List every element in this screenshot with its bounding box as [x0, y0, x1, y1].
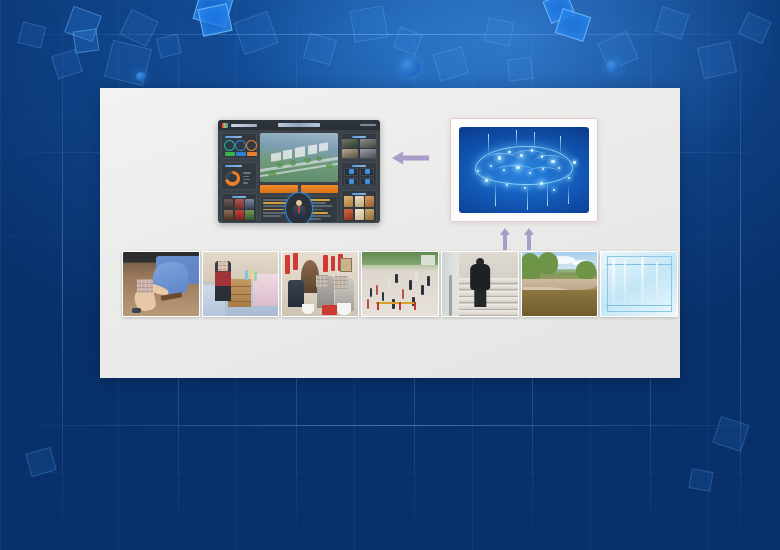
meal-thumb-5[interactable]	[355, 209, 364, 220]
donut-chart	[225, 171, 240, 186]
photo4-barrier	[376, 302, 415, 304]
photo4-person	[427, 276, 430, 286]
photo5-man-legs	[475, 289, 486, 307]
person-thumb-5[interactable]	[235, 210, 244, 220]
photo4-person	[415, 271, 418, 281]
person-thumb-6[interactable]	[245, 210, 254, 220]
map-building	[308, 144, 317, 154]
featured-resident-avatar[interactable]	[285, 192, 313, 223]
photo4-person	[402, 289, 405, 299]
photo1-shoe	[132, 308, 141, 314]
gauge-value-blue	[236, 152, 246, 156]
brain-light-ray	[527, 185, 528, 209]
alarm-row	[263, 215, 281, 217]
photo-activity-room[interactable]	[281, 251, 359, 317]
meal-thumb-3[interactable]	[365, 196, 374, 207]
photo5-man-coat	[471, 264, 491, 290]
photo6-willow	[538, 252, 558, 274]
arrow-up-left-to-ai	[500, 228, 510, 250]
photo2-bottle	[250, 269, 253, 279]
bg-square-13	[349, 5, 388, 42]
bg-circle-2	[606, 60, 620, 73]
bg-hline-1	[0, 34, 780, 35]
gauge-ring-green-icon	[224, 140, 235, 151]
distribution-card[interactable]	[221, 162, 257, 190]
device-status-title	[352, 165, 366, 168]
brand-wordmark	[231, 124, 257, 127]
map-greenery	[326, 163, 333, 169]
avatar-tie	[298, 206, 300, 213]
camera-feed-2[interactable]	[360, 139, 376, 148]
brain-node	[508, 151, 510, 153]
distribution-legend	[243, 172, 254, 183]
photo2-bottle	[254, 271, 257, 281]
gauge-value-orange	[247, 152, 257, 156]
photo4-person	[395, 274, 398, 284]
map-building	[295, 146, 305, 157]
dashboard-header	[218, 120, 380, 130]
brain-node	[573, 161, 575, 163]
photo3-wall-picture	[340, 258, 352, 272]
photo4-person	[409, 280, 412, 290]
kpi-gauges-card[interactable]	[221, 133, 257, 159]
photo-fall-detection[interactable]	[122, 251, 200, 317]
photo5-man	[471, 258, 491, 307]
person-thumb-1[interactable]	[224, 199, 233, 209]
brain-node	[551, 160, 554, 163]
gauge-value-green	[225, 152, 235, 156]
photo5-handrail	[449, 275, 453, 316]
meal-records-title	[352, 193, 366, 196]
photo-plaza-crowd[interactable]	[361, 251, 439, 317]
brain-light-ray	[495, 180, 496, 206]
photo7-streak	[624, 261, 626, 307]
photo4-person	[382, 292, 385, 302]
map-building	[271, 152, 281, 162]
photo4-person	[388, 278, 391, 288]
meal-thumb-4[interactable]	[344, 209, 353, 220]
section-bar-left[interactable]	[260, 185, 298, 193]
camera-feed-4[interactable]	[360, 149, 376, 158]
device-icon-2[interactable]	[360, 168, 374, 176]
bg-vline-7	[740, 0, 741, 550]
photo4-barrier-post	[377, 302, 379, 310]
3d-campus-map[interactable]	[260, 133, 338, 182]
live-camera-title	[352, 136, 366, 139]
brain-node	[540, 182, 543, 185]
photo3-banner	[323, 255, 328, 273]
brain-light-ray	[534, 132, 535, 149]
photo3-red-box	[322, 305, 337, 315]
bg-square-6	[73, 28, 100, 53]
gauge-orange[interactable]	[246, 140, 257, 156]
legend-row	[243, 182, 248, 184]
gauge-ring-blue-icon	[235, 140, 246, 151]
legend-row	[243, 172, 251, 174]
photo6-willow	[576, 261, 596, 279]
ai-brain-engine-card[interactable]	[450, 118, 598, 222]
meal-thumb-1[interactable]	[344, 196, 353, 207]
bg-square-21	[507, 56, 534, 81]
photo7-horizontal-bar	[606, 264, 673, 265]
alarm-lists-row	[260, 196, 338, 223]
device-icon-3[interactable]	[344, 178, 358, 186]
header-status-bar	[360, 124, 376, 127]
device-status-card[interactable]	[341, 162, 377, 187]
brain-node	[531, 149, 533, 151]
legend-row	[243, 179, 250, 181]
photo1-face-mosaic	[137, 279, 154, 293]
gauge-blue[interactable]	[235, 140, 246, 156]
arrow-left-to-dashboard	[392, 150, 430, 166]
photo-blue-abstract[interactable]	[600, 251, 678, 317]
meal-records-card[interactable]	[341, 190, 377, 223]
photo7-streak	[656, 262, 658, 306]
photo4-person	[367, 299, 370, 309]
brain-light-ray	[560, 136, 561, 157]
ai-brain-image	[459, 127, 589, 213]
device-icon-1[interactable]	[344, 168, 358, 176]
map-greenery	[304, 158, 311, 164]
resident-roster-card[interactable]	[221, 193, 257, 223]
brand-logo-icon	[222, 123, 228, 128]
photo4-person	[370, 288, 373, 298]
photo7-streak	[612, 258, 615, 309]
map-building	[319, 143, 328, 152]
brain-node	[558, 167, 560, 169]
bg-hline-3	[0, 425, 780, 426]
photo4-person	[421, 285, 424, 295]
brain-light-ray	[516, 130, 517, 149]
photo3-banner	[293, 253, 298, 270]
person-thumb-2[interactable]	[235, 199, 244, 209]
brain-light-ray	[488, 134, 489, 156]
gauge-ring-orange-icon	[246, 140, 257, 151]
photo-stairway[interactable]	[441, 251, 519, 317]
brain-light-ray	[568, 184, 569, 205]
brain-node	[516, 166, 519, 169]
dashboard-right-column	[341, 133, 377, 223]
photo3-face-mosaic	[334, 276, 348, 289]
brain-node	[553, 189, 555, 191]
photo2-face-mosaic	[218, 261, 229, 271]
photo7-streak	[641, 257, 645, 311]
photo4-barrier-post	[414, 302, 416, 310]
photo3-face-mosaic	[316, 275, 328, 287]
photo-nursing-room[interactable]	[202, 251, 280, 317]
photo3-banner	[331, 256, 336, 271]
meal-thumb-6[interactable]	[365, 209, 374, 220]
dashboard-body	[218, 130, 380, 223]
surveillance-photo-strip	[122, 251, 678, 317]
section-bar-right[interactable]	[301, 185, 339, 193]
photo4-person	[376, 285, 379, 295]
bg-circle-3	[136, 72, 146, 81]
brain-node	[541, 155, 543, 157]
photo4-building	[421, 255, 435, 265]
alarm-row-warning	[263, 202, 286, 204]
alarm-row-warning	[263, 209, 284, 211]
meal-thumb-2[interactable]	[355, 196, 364, 207]
bg-circle-1	[400, 58, 420, 76]
map-greenery	[276, 162, 283, 168]
brain-node	[485, 179, 488, 182]
arrow-up-right-to-ai	[524, 228, 534, 250]
resident-roster-title	[232, 196, 246, 199]
brain-light-ray	[547, 179, 548, 207]
brain-node	[506, 184, 508, 186]
photo6-water	[522, 290, 598, 316]
live-camera-card[interactable]	[341, 133, 377, 159]
dashboard-left-column	[221, 133, 257, 223]
photo3-bowl	[302, 304, 314, 314]
photo4-barrier-post	[399, 302, 401, 310]
map-greenery	[290, 160, 296, 165]
photo2-drawer	[228, 294, 251, 300]
photo2-drawer	[228, 301, 251, 307]
photo7-frame	[607, 256, 672, 311]
bg-square-16	[484, 18, 514, 47]
distribution-title	[225, 165, 242, 168]
photo3-bowl	[337, 303, 351, 315]
photo-park-river[interactable]	[521, 251, 599, 317]
person-thumb-3[interactable]	[245, 199, 254, 209]
camera-feed-1[interactable]	[342, 139, 358, 148]
photo3-banner	[285, 255, 290, 274]
bg-vline-1	[62, 0, 63, 550]
camera-feed-3[interactable]	[342, 149, 358, 158]
bg-square-25	[688, 468, 713, 492]
map-building	[283, 149, 292, 160]
avatar-person-icon	[293, 200, 306, 219]
kpi-section-title	[225, 136, 242, 139]
photo5-step	[459, 310, 518, 316]
map-greenery	[268, 170, 276, 176]
brain-node	[568, 177, 570, 179]
smart-care-control-dashboard[interactable]	[218, 120, 380, 223]
legend-row	[243, 176, 249, 178]
photo2-bottle	[245, 270, 248, 280]
content-panel	[100, 88, 680, 378]
device-icon-4[interactable]	[360, 178, 374, 186]
photo2-drawer	[228, 286, 251, 292]
gauge-green[interactable]	[224, 140, 235, 156]
person-thumb-4[interactable]	[224, 210, 233, 220]
dashboard-title-bar	[278, 123, 320, 127]
photo7-horizontal-bar	[606, 305, 673, 306]
dashboard-center-column	[260, 133, 338, 223]
photo2-chest	[228, 279, 251, 307]
